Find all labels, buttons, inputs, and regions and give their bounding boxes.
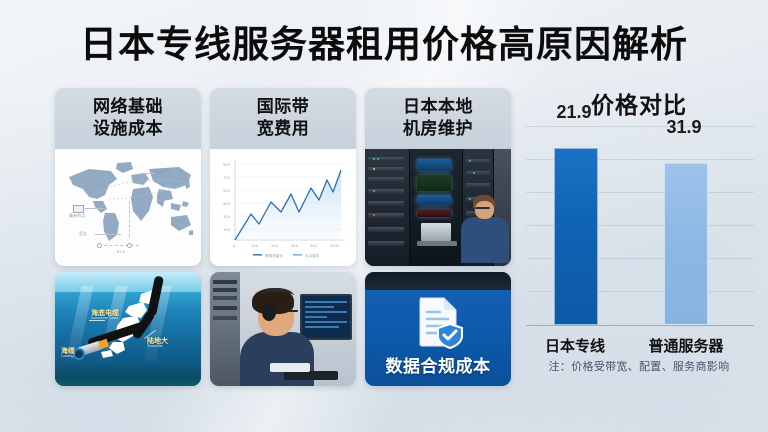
card-header-international-bandwidth: 国际带 宽费用: [210, 88, 356, 149]
card-body-data-compliance: 数据合规成本: [365, 272, 511, 386]
card-body-submarine-cable: 海底电缆 Submarine Cable 海缆 Landing 陆地大 Terr…: [55, 272, 201, 386]
bandwidth-line-chart-illustration: 900 700 500 400 300 100 0 100 200 400 50…: [210, 149, 356, 266]
svg-text:500: 500: [310, 244, 318, 248]
card-header-line1: 日本本地: [369, 96, 507, 118]
map-chip-americas: [73, 205, 84, 213]
map-label-apac: 亚太: [79, 231, 87, 237]
compliance-label: 数据合规成本: [365, 352, 511, 377]
card-body-local-datacenter: [365, 149, 511, 266]
engineer-headset-photo: [210, 272, 356, 386]
svg-text:0: 0: [233, 244, 236, 248]
price-comparison-chart: 价格对比 21.9 31.9 日本专线 普通服务器 注：价格受带宽、配置、服务商…: [514, 86, 764, 404]
card-network-infrastructure[interactable]: 网络基础 设施成本: [55, 88, 201, 266]
svg-text:400: 400: [291, 244, 299, 248]
compliance-top-strip: [365, 272, 511, 290]
sea-sublabel-terrestrial: Terrestrial: [147, 344, 162, 348]
world-map-illustration: 美洲节点 欧洲节点 亚太 97.4: [55, 149, 201, 266]
card-header-local-datacenter: 日本本地 机房维护: [365, 88, 511, 149]
card-header-line2: 宽费用: [214, 118, 352, 140]
card-header-line2: 设施成本: [59, 118, 197, 140]
bar-japan-dedicated[interactable]: [554, 148, 598, 325]
headset-band-icon: [260, 288, 294, 304]
document-shield-icon: [410, 294, 466, 350]
map-lead-3: [95, 234, 121, 235]
svg-text:700: 700: [223, 176, 231, 180]
map-lead-1: [83, 208, 105, 209]
map-dashed-vertical: [129, 201, 130, 237]
card-data-compliance[interactable]: 数据合规成本: [365, 272, 511, 386]
chart-axis-baseline: [526, 325, 754, 326]
headset-earcup-icon: [262, 304, 276, 321]
chart-category-row: 日本专线 普通服务器: [526, 335, 754, 357]
card-submarine-cable[interactable]: 海底电缆 Submarine Cable 海缆 Landing 陆地大 Terr…: [55, 272, 201, 386]
slide-root: 日本专线服务器租用价格高原因解析 网络基础 设施成本: [0, 0, 768, 432]
category-label-standard-server: 普通服务器: [636, 335, 736, 356]
svg-text:宽带流量价: 宽带流量价: [265, 253, 283, 258]
svg-text:出口成本: 出口成本: [305, 253, 320, 258]
map-dot-right: [127, 243, 132, 248]
svg-text:100: 100: [223, 228, 231, 232]
bar-standard-server[interactable]: [664, 163, 708, 325]
map-bottom-label: 97.4: [117, 249, 125, 254]
card-body-international-bandwidth: 900 700 500 400 300 100 0 100 200 400 50…: [210, 149, 356, 266]
svg-text:500: 500: [223, 189, 231, 193]
line-chart-icon: 900 700 500 400 300 100 0 100 200 400 50…: [213, 152, 353, 262]
submarine-cable-photo: 海底电缆 Submarine Cable 海缆 Landing 陆地大 Terr…: [55, 272, 201, 386]
svg-text:900: 900: [223, 163, 231, 167]
card-local-datacenter[interactable]: 日本本地 机房维护: [365, 88, 511, 266]
chart-plot-area: 21.9 31.9: [526, 126, 754, 326]
map-label-europe: 欧洲节点: [155, 169, 171, 175]
keyboard[interactable]: [284, 371, 338, 380]
svg-text:400: 400: [223, 202, 231, 206]
map-dot-left: [97, 243, 102, 248]
bar-value-label-secondary: 31.9: [652, 117, 716, 138]
card-header-line2: 机房维护: [369, 118, 507, 140]
gridline: [526, 126, 754, 127]
card-engineer-photo[interactable]: [210, 272, 356, 386]
map-lead-2: [141, 173, 155, 174]
compliance-panel: 数据合规成本: [365, 272, 511, 386]
card-header-line1: 国际带: [214, 96, 352, 118]
card-international-bandwidth[interactable]: 国际带 宽费用: [210, 88, 356, 266]
card-body-network-infrastructure: 美洲节点 欧洲节点 亚太 97.4: [55, 149, 201, 266]
bar-value-label-primary: 21.9: [542, 102, 606, 123]
reason-card-grid: 网络基础 设施成本: [55, 88, 510, 386]
card-body-engineer-photo: [210, 272, 356, 386]
monitor: [300, 294, 352, 340]
svg-text:200: 200: [271, 244, 279, 248]
glasses-icon: [286, 310, 298, 312]
sea-sublabel-landing: Landing: [61, 354, 73, 358]
category-label-japan-dedicated: 日本专线: [530, 335, 620, 356]
chart-note: 注：价格受带宽、配置、服务商影响: [514, 358, 764, 374]
svg-text:3200: 3200: [330, 244, 340, 248]
glasses-icon: [475, 207, 490, 209]
map-label-americas: 美洲节点: [69, 213, 85, 219]
card-header-network-infrastructure: 网络基础 设施成本: [55, 88, 201, 149]
server-room-photo: [365, 149, 511, 266]
page-title: 日本专线服务器租用价格高原因解析: [0, 22, 768, 68]
svg-text:100: 100: [251, 244, 259, 248]
desk-surface: [270, 363, 310, 372]
card-header-line1: 网络基础: [59, 96, 197, 118]
map-dashed-horizontal: [99, 245, 139, 246]
svg-text:300: 300: [223, 215, 231, 219]
